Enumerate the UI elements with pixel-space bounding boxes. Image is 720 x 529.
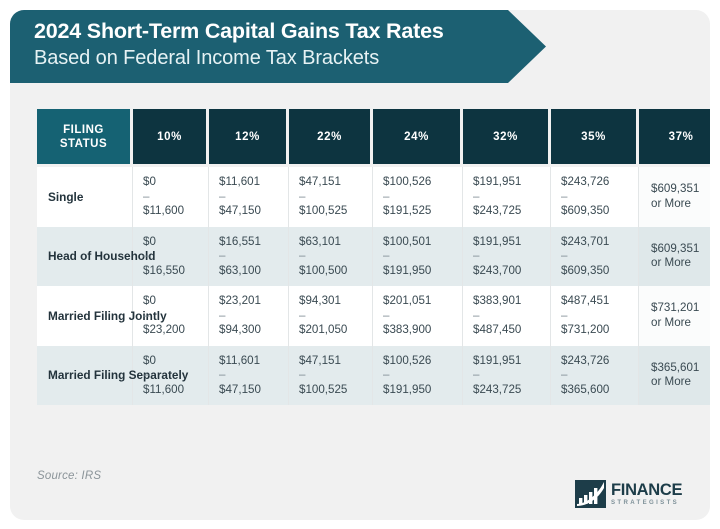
table-row: Head of Household$0–$16,550$16,551–$63,1… [37,227,710,287]
bracket-dash: – [473,249,479,262]
bracket-cell: $243,726–$609,350 [551,167,639,227]
logo-tagline: STRATEGISTS [611,499,682,507]
bracket-lower: $191,951 [473,235,521,248]
bracket-lower: $100,526 [383,354,431,367]
row-label: Single [37,167,133,227]
bracket-lower: $201,051 [383,294,431,307]
column-header-rate-37: 37% [639,109,710,167]
row-label: Head of Household [37,227,133,287]
bracket-dash: – [299,368,305,381]
bracket-dash: – [299,249,305,262]
bracket-cell: $243,701–$609,350 [551,227,639,287]
bracket-cell: $16,551–$63,100 [209,227,289,287]
table-row: Married Filing Separately$0–$11,600$11,6… [37,346,710,406]
bracket-dash: – [383,249,389,262]
bracket-lower: $63,101 [299,235,341,248]
bracket-upper: $201,050 [299,323,347,336]
bracket-dash: – [561,309,567,322]
bracket-lower: $243,726 [561,354,609,367]
bracket-upper: $23,200 [143,323,185,336]
bracket-upper: $609,350 [561,204,609,217]
bracket-lower: $100,526 [383,175,431,188]
column-header-rate-35: 35% [551,109,639,167]
table-row: Married Filing Jointly$0–$23,200$23,201–… [37,286,710,346]
bracket-dash: – [383,368,389,381]
bracket-dash: – [143,190,149,203]
bracket-top-threshold: $609,351 [651,242,699,255]
bracket-cell-top: $609,351or More [639,227,710,287]
column-header-rate-24: 24% [373,109,463,167]
bracket-cell-top: $365,601or More [639,346,710,406]
column-header-rate-10: 10% [133,109,209,167]
bracket-cell-top: $609,351or More [639,167,710,227]
bracket-cell: $0–$23,200 [133,286,209,346]
bracket-cell: $191,951–$243,700 [463,227,551,287]
bracket-dash: – [473,190,479,203]
bracket-upper: $63,100 [219,264,261,277]
bracket-dash: – [143,368,149,381]
bracket-dash: – [383,309,389,322]
bracket-dash: – [219,368,225,381]
table-header: FILING STATUS 10% 12% 22% 24% 32% 35% 37… [37,109,710,167]
page-subtitle: Based on Federal Income Tax Brackets [34,45,546,71]
bracket-upper: $191,950 [383,383,431,396]
tax-rate-table: FILING STATUS 10% 12% 22% 24% 32% 35% 37… [37,109,710,405]
bracket-lower: $0 [143,175,156,188]
bracket-upper: $243,725 [473,383,521,396]
bracket-dash: – [561,190,567,203]
bracket-cell: $191,951–$243,725 [463,167,551,227]
bracket-cell: $191,951–$243,725 [463,346,551,406]
bracket-top-suffix: or More [651,197,691,210]
bracket-lower: $0 [143,294,156,307]
bracket-upper: $383,900 [383,323,431,336]
table-row: Single$0–$11,600$11,601–$47,150$47,151–$… [37,167,710,227]
finance-strategists-logo-icon [575,480,606,508]
bracket-lower: $47,151 [299,354,341,367]
bracket-lower: $16,551 [219,235,261,248]
bracket-upper: $191,525 [383,204,431,217]
bracket-top-suffix: or More [651,256,691,269]
bracket-dash: – [473,309,479,322]
bracket-cell: $11,601–$47,150 [209,346,289,406]
bracket-cell: $100,501–$191,950 [373,227,463,287]
bracket-upper: $47,150 [219,383,261,396]
bracket-lower: $383,901 [473,294,521,307]
bracket-dash: – [219,249,225,262]
bracket-upper: $365,600 [561,383,609,396]
column-header-rate-12: 12% [209,109,289,167]
bracket-cell: $23,201–$94,300 [209,286,289,346]
bracket-dash: – [561,249,567,262]
bracket-cell-top: $731,201or More [639,286,710,346]
title-banner: 2024 Short-Term Capital Gains Tax Rates … [10,10,546,83]
bracket-lower: $0 [143,235,156,248]
bracket-cell: $201,051–$383,900 [373,286,463,346]
brand-logo: FINANCE STRATEGISTS [575,480,682,508]
bracket-top-suffix: or More [651,375,691,388]
logo-name: FINANCE [611,482,682,498]
column-header-filing-status: FILING STATUS [37,109,133,167]
bracket-cell: $47,151–$100,525 [289,167,373,227]
infographic-card: 2024 Short-Term Capital Gains Tax Rates … [10,10,710,520]
bracket-lower: $191,951 [473,175,521,188]
page-title: 2024 Short-Term Capital Gains Tax Rates [34,18,546,45]
bracket-cell: $100,526–$191,525 [373,167,463,227]
bracket-lower: $243,701 [561,235,609,248]
bracket-cell: $487,451–$731,200 [551,286,639,346]
bracket-lower: $100,501 [383,235,431,248]
bracket-upper: $94,300 [219,323,261,336]
bracket-upper: $16,550 [143,264,185,277]
logo-wordmark: FINANCE STRATEGISTS [611,482,682,507]
bracket-cell: $63,101–$100,500 [289,227,373,287]
bracket-upper: $11,600 [143,204,184,217]
filing-status-line1: FILING [63,124,104,136]
bracket-lower: $0 [143,354,156,367]
table-body: Single$0–$11,600$11,601–$47,150$47,151–$… [37,167,710,405]
bracket-lower: $11,601 [219,175,260,188]
bracket-cell: $94,301–$201,050 [289,286,373,346]
bracket-top-threshold: $365,601 [651,361,699,374]
bracket-cell: $0–$11,600 [133,167,209,227]
bracket-dash: – [219,309,225,322]
bracket-dash: – [473,368,479,381]
bracket-dash: – [383,190,389,203]
bracket-dash: – [219,190,225,203]
bracket-top-threshold: $731,201 [651,301,699,314]
bracket-lower: $94,301 [299,294,341,307]
row-label: Married Filing Separately [37,346,133,406]
bracket-dash: – [561,368,567,381]
bracket-upper: $243,700 [473,264,521,277]
bracket-lower: $191,951 [473,354,521,367]
row-label: Married Filing Jointly [37,286,133,346]
column-header-rate-22: 22% [289,109,373,167]
bracket-lower: $47,151 [299,175,341,188]
bracket-top-suffix: or More [651,316,691,329]
filing-status-line2: STATUS [60,138,107,150]
bracket-lower: $23,201 [219,294,261,307]
bracket-dash: – [299,309,305,322]
bracket-cell: $383,901–$487,450 [463,286,551,346]
bracket-cell: $47,151–$100,525 [289,346,373,406]
bracket-cell: $11,601–$47,150 [209,167,289,227]
bracket-dash: – [143,249,149,262]
bracket-upper: $100,525 [299,204,347,217]
column-header-rate-32: 32% [463,109,551,167]
bracket-upper: $11,600 [143,383,184,396]
bracket-dash: – [299,190,305,203]
bracket-upper: $100,500 [299,264,347,277]
bracket-upper: $47,150 [219,204,261,217]
bracket-top-threshold: $609,351 [651,182,699,195]
tax-rate-table-wrapper: FILING STATUS 10% 12% 22% 24% 32% 35% 37… [37,109,683,405]
header-row: FILING STATUS 10% 12% 22% 24% 32% 35% 37… [37,109,710,167]
bracket-dash: – [143,309,149,322]
bracket-upper: $243,725 [473,204,521,217]
bracket-upper: $609,350 [561,264,609,277]
bracket-upper: $731,200 [561,323,609,336]
bracket-upper: $487,450 [473,323,521,336]
source-note: Source: IRS [37,470,101,482]
bracket-lower: $243,726 [561,175,609,188]
bracket-cell: $0–$16,550 [133,227,209,287]
bracket-cell: $100,526–$191,950 [373,346,463,406]
bracket-upper: $191,950 [383,264,431,277]
bracket-cell: $243,726–$365,600 [551,346,639,406]
bracket-lower: $487,451 [561,294,609,307]
bracket-lower: $11,601 [219,354,260,367]
bracket-upper: $100,525 [299,383,347,396]
